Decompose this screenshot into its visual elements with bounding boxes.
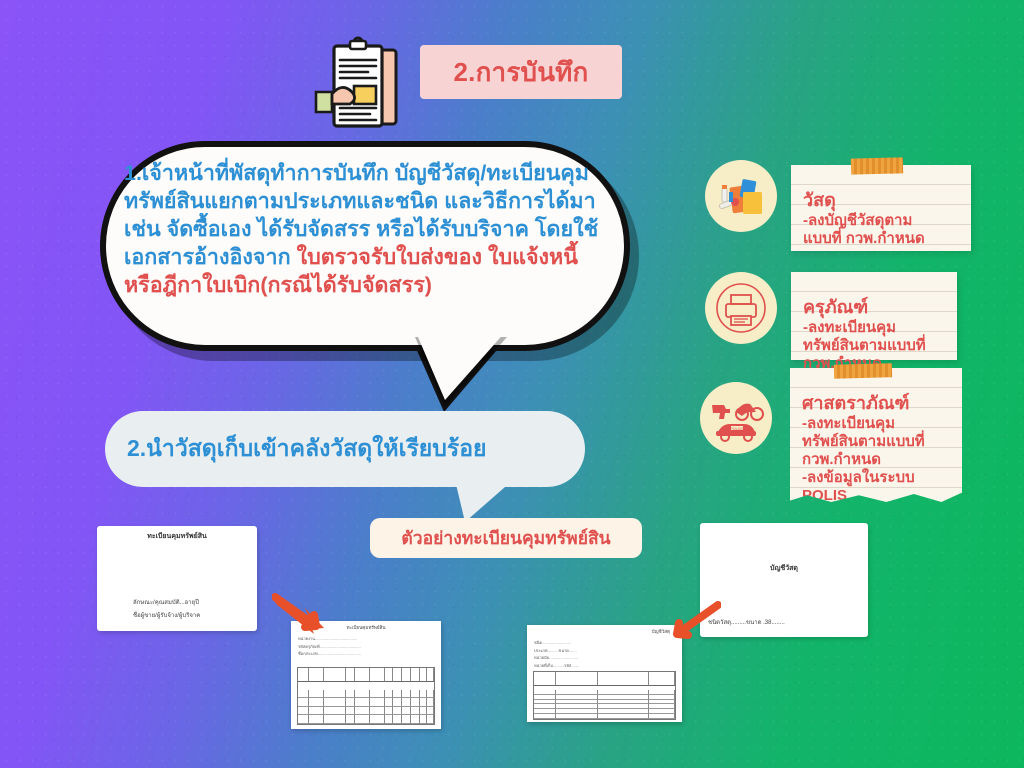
slide-canvas: 2.การบันทึก 1.เจ้าหน้าที่พัสดุทำการบันทึ… — [0, 0, 1024, 768]
document-material-account: บัญชีวัสดุ ชนิดวัสดุ.........ขนาด .38...… — [700, 523, 868, 637]
second-speech-bubble: 2.นำวัสดุเก็บเข้าคลังวัสดุให้เรียบร้อย — [105, 411, 585, 487]
card-heading: ครุภัณฑ์ — [803, 297, 947, 319]
office-supplies-icon — [705, 160, 777, 232]
svg-text:POLICE: POLICE — [730, 427, 744, 431]
main-bubble-tail — [415, 330, 507, 400]
printer-icon — [705, 272, 777, 344]
form-meta-line: หน่วยนับ.......................... — [534, 654, 675, 662]
info-card-materials: วัสดุ-ลงบัญชีวัสดุตาม แบบที่ กวพ.กำหนด — [705, 160, 970, 260]
form-table — [533, 671, 676, 720]
form-title: บัญชีวัสดุ — [527, 625, 682, 636]
info-card-weapons: POLICE ศาสตราภัณฑ์-ลงทะเบียนคุม ทรัพย์สิ… — [700, 372, 975, 522]
form-meta-line: ชนิด.......................... — [534, 639, 675, 647]
weapons-vehicle-icon: POLICE — [700, 382, 772, 454]
info-card-equipment: ครุภัณฑ์-ลงทะเบียนคุม ทรัพย์สินตามแบบที่… — [705, 272, 970, 372]
page-title-banner: 2.การบันทึก — [420, 45, 622, 99]
document-line-b: ชื่อผู้ขาย/ผู้รับจ้าง/ผู้บริจาค — [133, 610, 200, 620]
document-title: ทะเบียนคุมทรัพย์สิน — [97, 526, 257, 542]
second-bubble-text: 2.นำวัสดุเก็บเข้าคลังวัสดุให้เรียบร้อย — [105, 431, 487, 467]
form-meta-line: รหัสครุภัณฑ์............................… — [298, 643, 434, 651]
caption-label: ตัวอย่างทะเบียนคุมทรัพย์สิน — [370, 518, 642, 558]
form-meta-line: หน่วยที่เก็บ..........รหัส....... — [534, 662, 675, 670]
arrow-left-icon — [663, 600, 721, 649]
document-line-a: ลักษณะ/คุณสมบัติ...อายุปี — [133, 597, 199, 607]
caption-text: ตัวอย่างทะเบียนคุมทรัพย์สิน — [401, 524, 610, 552]
document-title: บัญชีวัสดุ — [700, 523, 868, 574]
form-table — [297, 667, 435, 725]
main-bubble-text: 1.เจ้าหน้าที่พัสดุทำการบันทึก บัญชีวัสดุ… — [124, 160, 604, 300]
card-note: ครุภัณฑ์-ลงทะเบียนคุม ทรัพย์สินตามแบบที่… — [791, 272, 957, 360]
page-title: 2.การบันทึก — [454, 52, 589, 93]
arrow-right-icon — [272, 592, 330, 641]
card-content: ศาสตราภัณฑ์-ลงทะเบียนคุม ทรัพย์สินตามแบบ… — [790, 368, 962, 512]
card-heading: ศาสตราภัณฑ์ — [802, 393, 952, 415]
form-material-account: บัญชีวัสดุ ชนิด.........................… — [527, 625, 682, 722]
clipboard-document-icon — [310, 34, 414, 134]
card-content: วัสดุ-ลงบัญชีวัสดุตาม แบบที่ กวพ.กำหนด — [791, 165, 971, 254]
card-body: -ลงบัญชีวัสดุตาม แบบที่ กวพ.กำหนด — [803, 212, 925, 247]
card-note: ศาสตราภัณฑ์-ลงทะเบียนคุม ทรัพย์สินตามแบบ… — [790, 368, 962, 502]
card-heading: วัสดุ — [803, 190, 961, 212]
form-meta-line: ประเภท..........ขนาด....... — [534, 647, 675, 655]
card-note: วัสดุ-ลงบัญชีวัสดุตาม แบบที่ กวพ.กำหนด — [791, 165, 971, 251]
card-body: -ลงทะเบียนคุม ทรัพย์สินตามแบบที่ กวพ.กำห… — [802, 415, 925, 505]
card-tape — [834, 363, 892, 379]
form-meta: ชนิด.......................... ประเภท...… — [527, 636, 682, 669]
document-register-asset: ทะเบียนคุมทรัพย์สิน ลักษณะ/คุณสมบัติ...อ… — [97, 526, 257, 631]
form-meta-line: ชื่อ/ประเภท.............................… — [298, 650, 434, 658]
